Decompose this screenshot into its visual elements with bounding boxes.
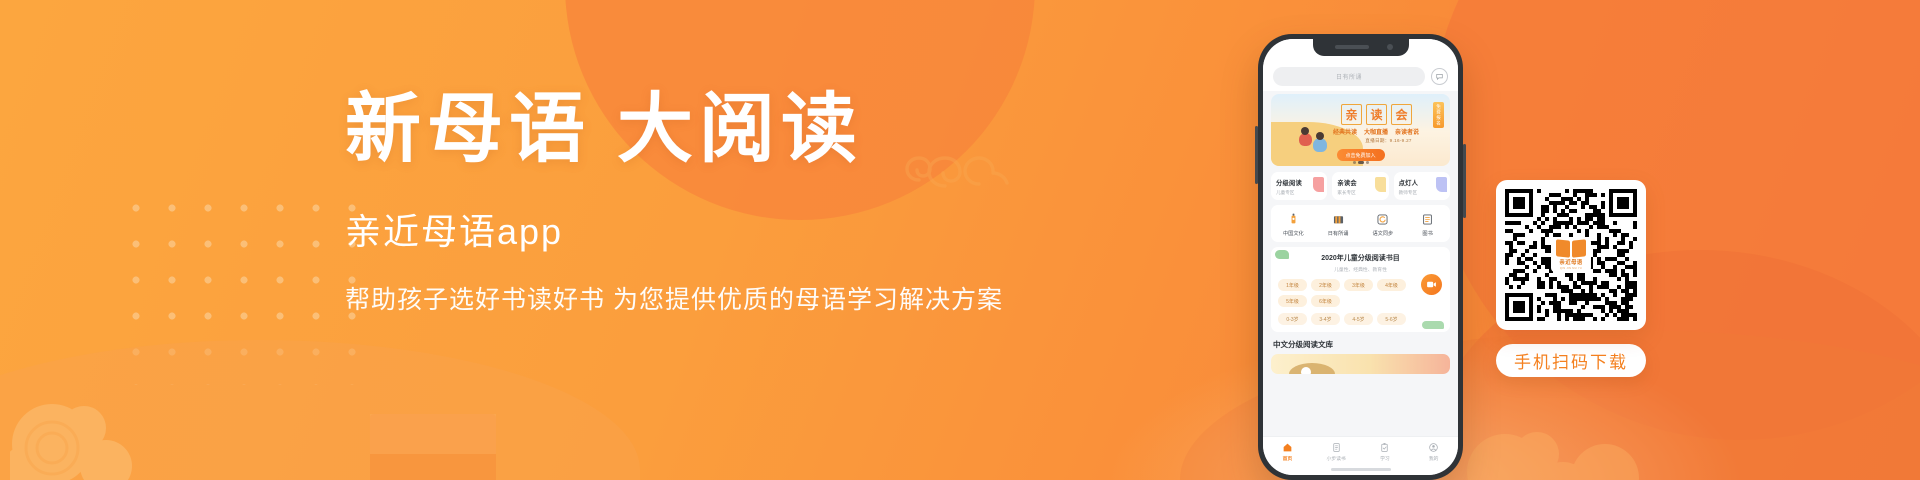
bookmark-icon [1436,177,1447,192]
decorative-hill-left [0,340,640,480]
promo-subtitles: 经典共读 大咖直播 亲读者说 [1333,127,1444,136]
quick-link-label: 中国文化 [1283,230,1304,237]
grade-chip[interactable]: 3年级 [1344,279,1373,291]
quick-link-sync[interactable]: 语文同步 [1365,212,1401,237]
kid-illustration [1313,138,1327,152]
tab-label: 小步读书 [1327,455,1346,462]
leaf-icon [1422,321,1444,329]
decorative-dot-grid [118,190,368,385]
grade-chip[interactable]: 2年级 [1311,279,1340,291]
grade-chip[interactable]: 6年级 [1311,295,1340,307]
banner-tagline: 帮助孩子选好书读好书 为您提供优质的母语学习解决方案 [345,288,1005,313]
page-title: 新母语大阅读 [345,92,1005,168]
promo-banner: 新母语大阅读 亲近母语app 帮助孩子选好书读好书 为您提供优质的母语学习解决方… [0,0,1920,480]
promo-title-char: 会 [1391,104,1412,125]
message-icon[interactable] [1431,68,1448,85]
age-chip[interactable]: 0-3岁 [1278,313,1307,325]
promo-card[interactable]: 亲 读 会 免费报名 经典共读 大咖直播 亲读者说 直播日期：9.16-9.27… [1271,94,1450,166]
books-icon [1420,212,1435,227]
camera-icon [1387,44,1393,50]
age-chip[interactable]: 5-6岁 [1377,313,1406,325]
promo-date: 直播日期：9.16-9.27 [1333,138,1444,144]
quick-link-label: 语文同步 [1372,230,1393,237]
leaf-icon [1275,250,1289,259]
tab-study[interactable]: 学习 [1361,441,1410,462]
category-card-graded-reading[interactable]: 分级阅读 儿童专区 [1271,172,1327,200]
brand-name-pinyin: QIN JIN MU YU [1560,267,1582,270]
booklist-title: 2020年儿童分级阅读书目 [1278,253,1443,263]
quick-link-label: 日有所诵 [1328,230,1349,237]
promo-subtitle: 亲读者说 [1395,127,1419,136]
promo-cta-button[interactable]: 点击免费加入 [1336,149,1384,161]
booklist-card[interactable]: 2020年儿童分级阅读书目 儿童性、经典性、教育性 1年级 2年级 3年级 4年… [1271,247,1450,332]
tab-read[interactable]: 小步读书 [1312,441,1361,462]
headline-part-2: 大阅读 [617,88,863,172]
grade-chip[interactable]: 4年级 [1377,279,1406,291]
read-icon [1330,441,1342,453]
kid-head-illustration [1301,127,1309,135]
age-chips: 0-3岁 3-4岁 4-5岁 5-6岁 [1278,313,1443,325]
phone-screen: 日有所诵 亲 读 会 免费 [1263,39,1458,475]
banner-copy: 新母语大阅读 亲近母语app 帮助孩子选好书读好书 为您提供优质的母语学习解决方… [345,92,1005,313]
search-bar: 日有所诵 [1263,61,1458,91]
tab-home[interactable]: 首页 [1263,441,1312,462]
home-indicator [1331,468,1391,471]
category-cards: 分级阅读 儿童专区 亲读会 家长专区 点灯人 教师专区 [1271,172,1450,200]
quick-link-label: 图书 [1422,230,1432,237]
cloud-icon [1455,400,1645,480]
grade-chip[interactable]: 1年级 [1278,279,1307,291]
tab-profile[interactable]: 我的 [1409,441,1458,462]
carousel-dots[interactable] [1353,161,1369,164]
promo-badge: 免费报名 [1433,102,1444,128]
qr-code-image: 亲近母语 QIN JIN MU YU [1505,189,1637,321]
tab-label: 首页 [1283,455,1293,462]
decorative-circle-bottom-right [1420,250,1920,480]
bookmark-icon [1375,177,1386,192]
app-content: 亲 读 会 免费报名 经典共读 大咖直播 亲读者说 直播日期：9.16-9.27… [1263,94,1458,374]
book-logo-icon [1556,240,1586,257]
carousel-dot-active[interactable] [1358,161,1364,164]
culture-icon [1286,212,1301,227]
promo-title-char: 读 [1366,104,1387,125]
decorative-cube [370,414,496,480]
qr-block: 亲近母语 QIN JIN MU YU 手机扫码下载 [1496,180,1646,377]
quick-link-books[interactable]: 图书 [1410,212,1446,237]
brand-name: 亲近母语 [1559,258,1582,266]
booklist-subtitle: 儿童性、经典性、教育性 [1278,266,1443,273]
phone-mockup: 日有所诵 亲 读 会 免费 [1258,34,1463,480]
study-icon [1379,441,1391,453]
quick-link-daily-recitation[interactable]: 日有所诵 [1320,212,1356,237]
quick-link-culture[interactable]: 中国文化 [1275,212,1311,237]
grade-chip[interactable]: 5年级 [1278,295,1307,307]
qr-code-card[interactable]: 亲近母语 QIN JIN MU YU [1496,180,1646,330]
book-stack-icon [1331,212,1346,227]
section-illustration [1289,363,1335,374]
promo-title-char: 亲 [1341,104,1362,125]
quick-links: 中国文化 日有所诵 语文同步 [1271,205,1450,242]
kid-head-illustration [1316,132,1324,140]
download-button[interactable]: 手机扫码下载 [1496,344,1646,377]
tab-label: 学习 [1380,455,1390,462]
video-play-icon[interactable] [1421,274,1442,295]
promo-subtitle: 大咖直播 [1364,127,1388,136]
bookmark-icon [1313,177,1324,192]
app-name: 亲近母语app [345,214,1005,250]
cloud-icon [10,370,170,480]
tab-label: 我的 [1429,455,1439,462]
category-card-teacher[interactable]: 点灯人 教师专区 [1394,172,1450,200]
section-card[interactable] [1271,354,1450,374]
carousel-dot[interactable] [1366,161,1369,164]
search-input[interactable]: 日有所诵 [1273,67,1425,86]
promo-title: 亲 读 会 [1341,104,1412,125]
home-icon [1281,441,1293,453]
promo-subtitle: 经典共读 [1333,127,1357,136]
section-title: 中文分级阅读文库 [1273,339,1448,350]
sync-icon [1375,212,1390,227]
age-chip[interactable]: 3-4岁 [1311,313,1340,325]
brand-logo: 亲近母语 QIN JIN MU YU [1551,238,1591,272]
section-illustration-dot [1301,367,1311,374]
speaker-icon [1335,45,1369,49]
headline-part-1: 新母语 [345,88,591,172]
category-card-parent-club[interactable]: 亲读会 家长专区 [1332,172,1388,200]
profile-icon [1428,441,1440,453]
grade-chips: 1年级 2年级 3年级 4年级 5年级 6年级 [1278,279,1443,307]
age-chip[interactable]: 4-5岁 [1344,313,1373,325]
carousel-dot[interactable] [1353,161,1356,164]
phone-notch [1313,39,1409,56]
